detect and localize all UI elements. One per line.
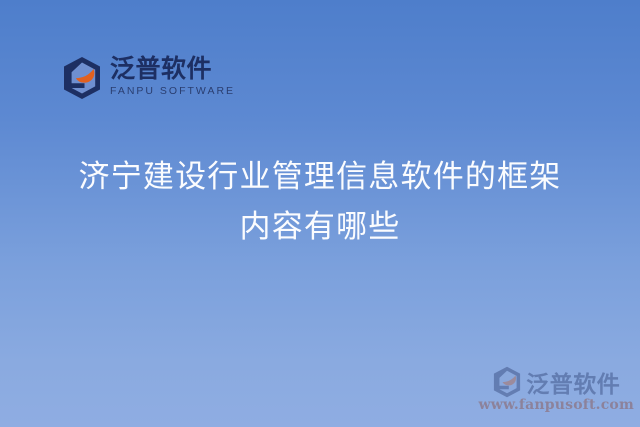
fanpu-logo-icon: [62, 56, 102, 100]
watermark: 泛普软件 www.fanpusoft.com: [478, 365, 634, 413]
page-title-line-1: 济宁建设行业管理信息软件的框架: [0, 152, 640, 202]
watermark-logo-row: 泛普软件: [492, 365, 620, 399]
promo-banner: 泛普软件 FANPU SOFTWARE 济宁建设行业管理信息软件的框架 内容有哪…: [0, 0, 640, 427]
brand-logo-lockup: 泛普软件 FANPU SOFTWARE: [62, 55, 235, 100]
brand-name-cn: 泛普软件: [110, 55, 235, 82]
watermark-url: www.fanpusoft.com: [478, 397, 634, 413]
brand-wordmark: 泛普软件 FANPU SOFTWARE: [110, 55, 235, 97]
fanpu-logo-icon: [492, 366, 522, 398]
page-title: 济宁建设行业管理信息软件的框架 内容有哪些: [0, 152, 640, 252]
page-title-line-2: 内容有哪些: [0, 202, 640, 252]
watermark-brand-name: 泛普软件: [526, 365, 620, 399]
brand-name-en: FANPU SOFTWARE: [110, 85, 235, 97]
